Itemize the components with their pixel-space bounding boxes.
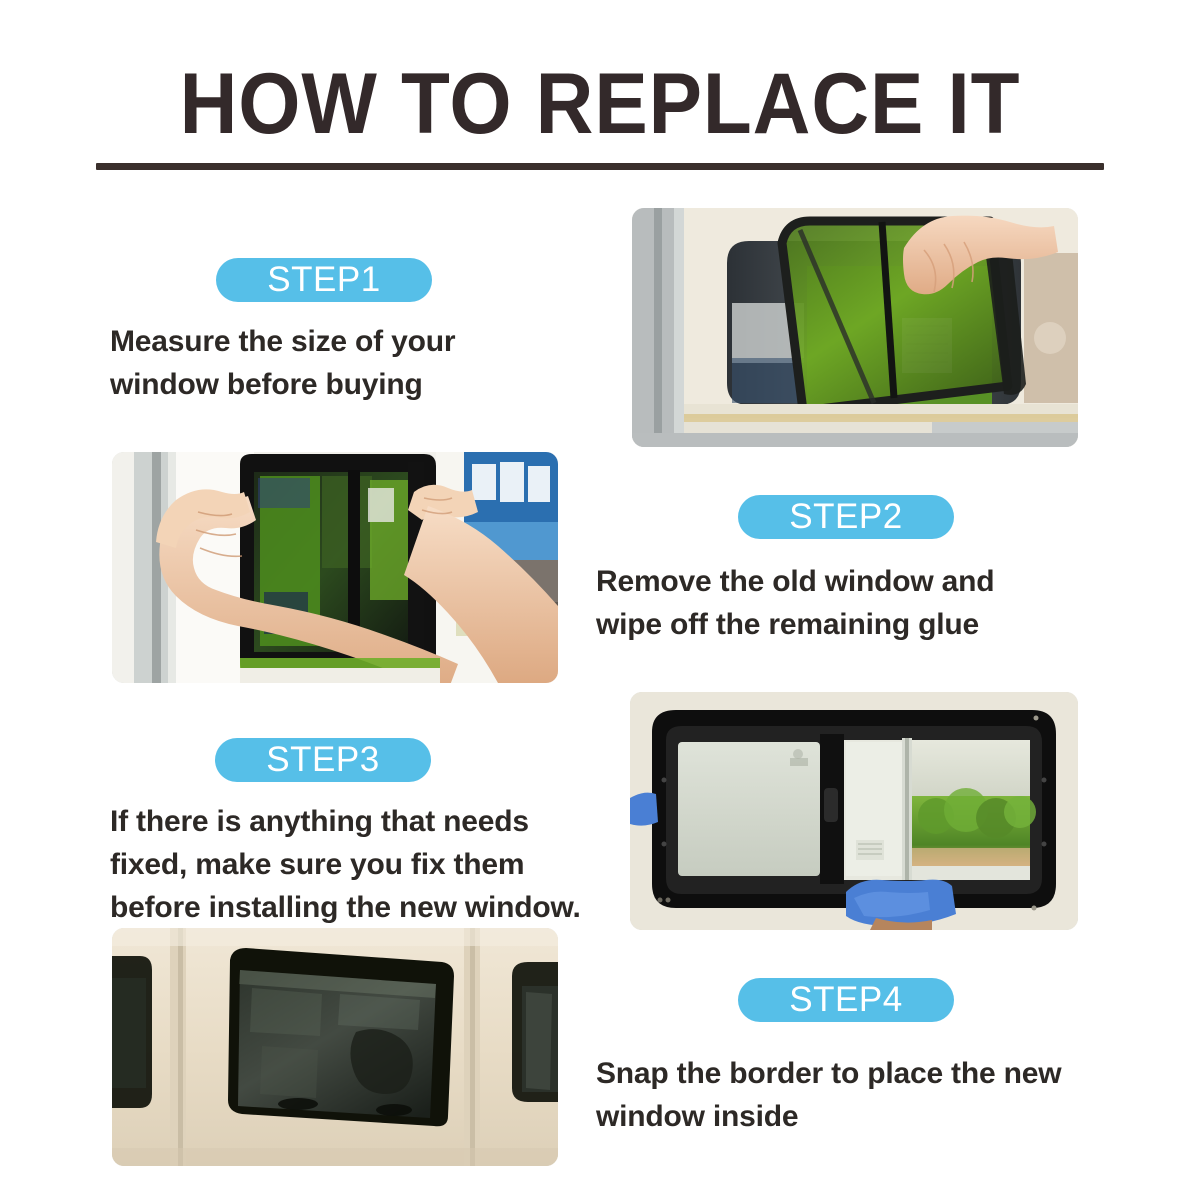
title-underline-rule [96,163,1104,170]
step-description-3-line-1: If there is anything that needs [110,800,630,843]
step-photo-2 [112,452,558,683]
step-photo-3 [630,692,1078,930]
step-description-4: Snap the border to place the new window … [596,1052,1116,1138]
step-description-2-line-1: Remove the old window and [596,560,1116,603]
step-description-3: If there is anything that needs fixed, m… [110,800,630,929]
step-description-4-line-2: window inside [596,1095,1116,1138]
step-badge-3: STEP3 [215,738,431,782]
photo-4-illustration [112,928,558,1166]
step-description-2-line-2: wipe off the remaining glue [596,603,1116,646]
step-badge-1: STEP1 [216,258,432,302]
step-description-4-line-1: Snap the border to place the new [596,1052,1116,1095]
step-description-1-line-2: window before buying [110,363,580,406]
step-photo-4 [112,928,558,1166]
step-description-1-line-1: Measure the size of your [110,320,580,363]
step-description-3-line-3: before installing the new window. [110,886,630,929]
photo-2-illustration [112,452,558,683]
photo-3-illustration [630,692,1078,930]
photo-1-illustration [632,208,1078,447]
header: HOW TO REPLACE IT [0,58,1200,150]
step-description-1: Measure the size of your window before b… [110,320,580,406]
infographic-page: HOW TO REPLACE IT STEP1 Measure the size… [0,0,1200,1200]
step-description-2: Remove the old window and wipe off the r… [596,560,1116,646]
step-photo-1 [632,208,1078,447]
step-badge-4: STEP4 [738,978,954,1022]
step-badge-2: STEP2 [738,495,954,539]
page-title: HOW TO REPLACE IT [42,58,1158,150]
step-description-3-line-2: fixed, make sure you fix them [110,843,630,886]
